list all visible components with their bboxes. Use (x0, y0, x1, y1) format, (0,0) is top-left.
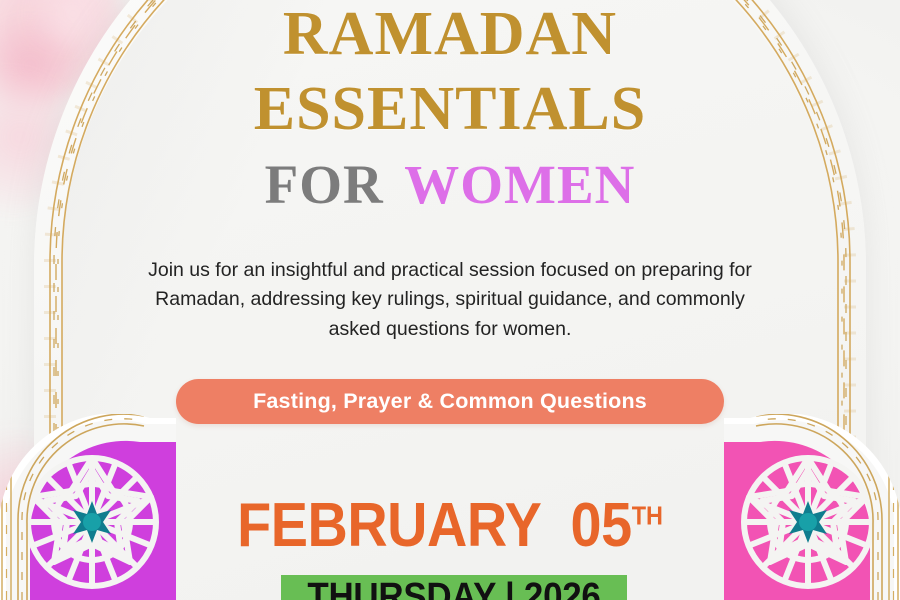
ramadan-event-poster: Ramadan Essentials For Women Join us for… (0, 0, 900, 600)
islamic-star-rosette-right (724, 414, 900, 600)
topic-badge: Fasting, Prayer & Common Questions (176, 379, 724, 424)
event-date-month: FEBRUARY (237, 491, 540, 560)
islamic-star-rosette-left (0, 414, 176, 600)
event-description: Join us for an insightful and practical … (140, 256, 760, 344)
title-line-for-women: For Women (0, 140, 900, 214)
title-word-women: Women (404, 133, 635, 220)
event-weekday-year-label: THURSDAY | 2026 (295, 578, 613, 600)
event-date-day-suffix: TH (632, 500, 663, 530)
event-weekday-year-band: THURSDAY | 2026 (281, 575, 627, 600)
poster-title-block: Ramadan Essentials For Women (0, 0, 900, 214)
title-line-essentials: Essentials (0, 61, 900, 142)
title-word-for: For (265, 133, 384, 220)
topic-badge-label: Fasting, Prayer & Common Questions (253, 389, 647, 414)
event-date-day: 05 (571, 491, 632, 560)
